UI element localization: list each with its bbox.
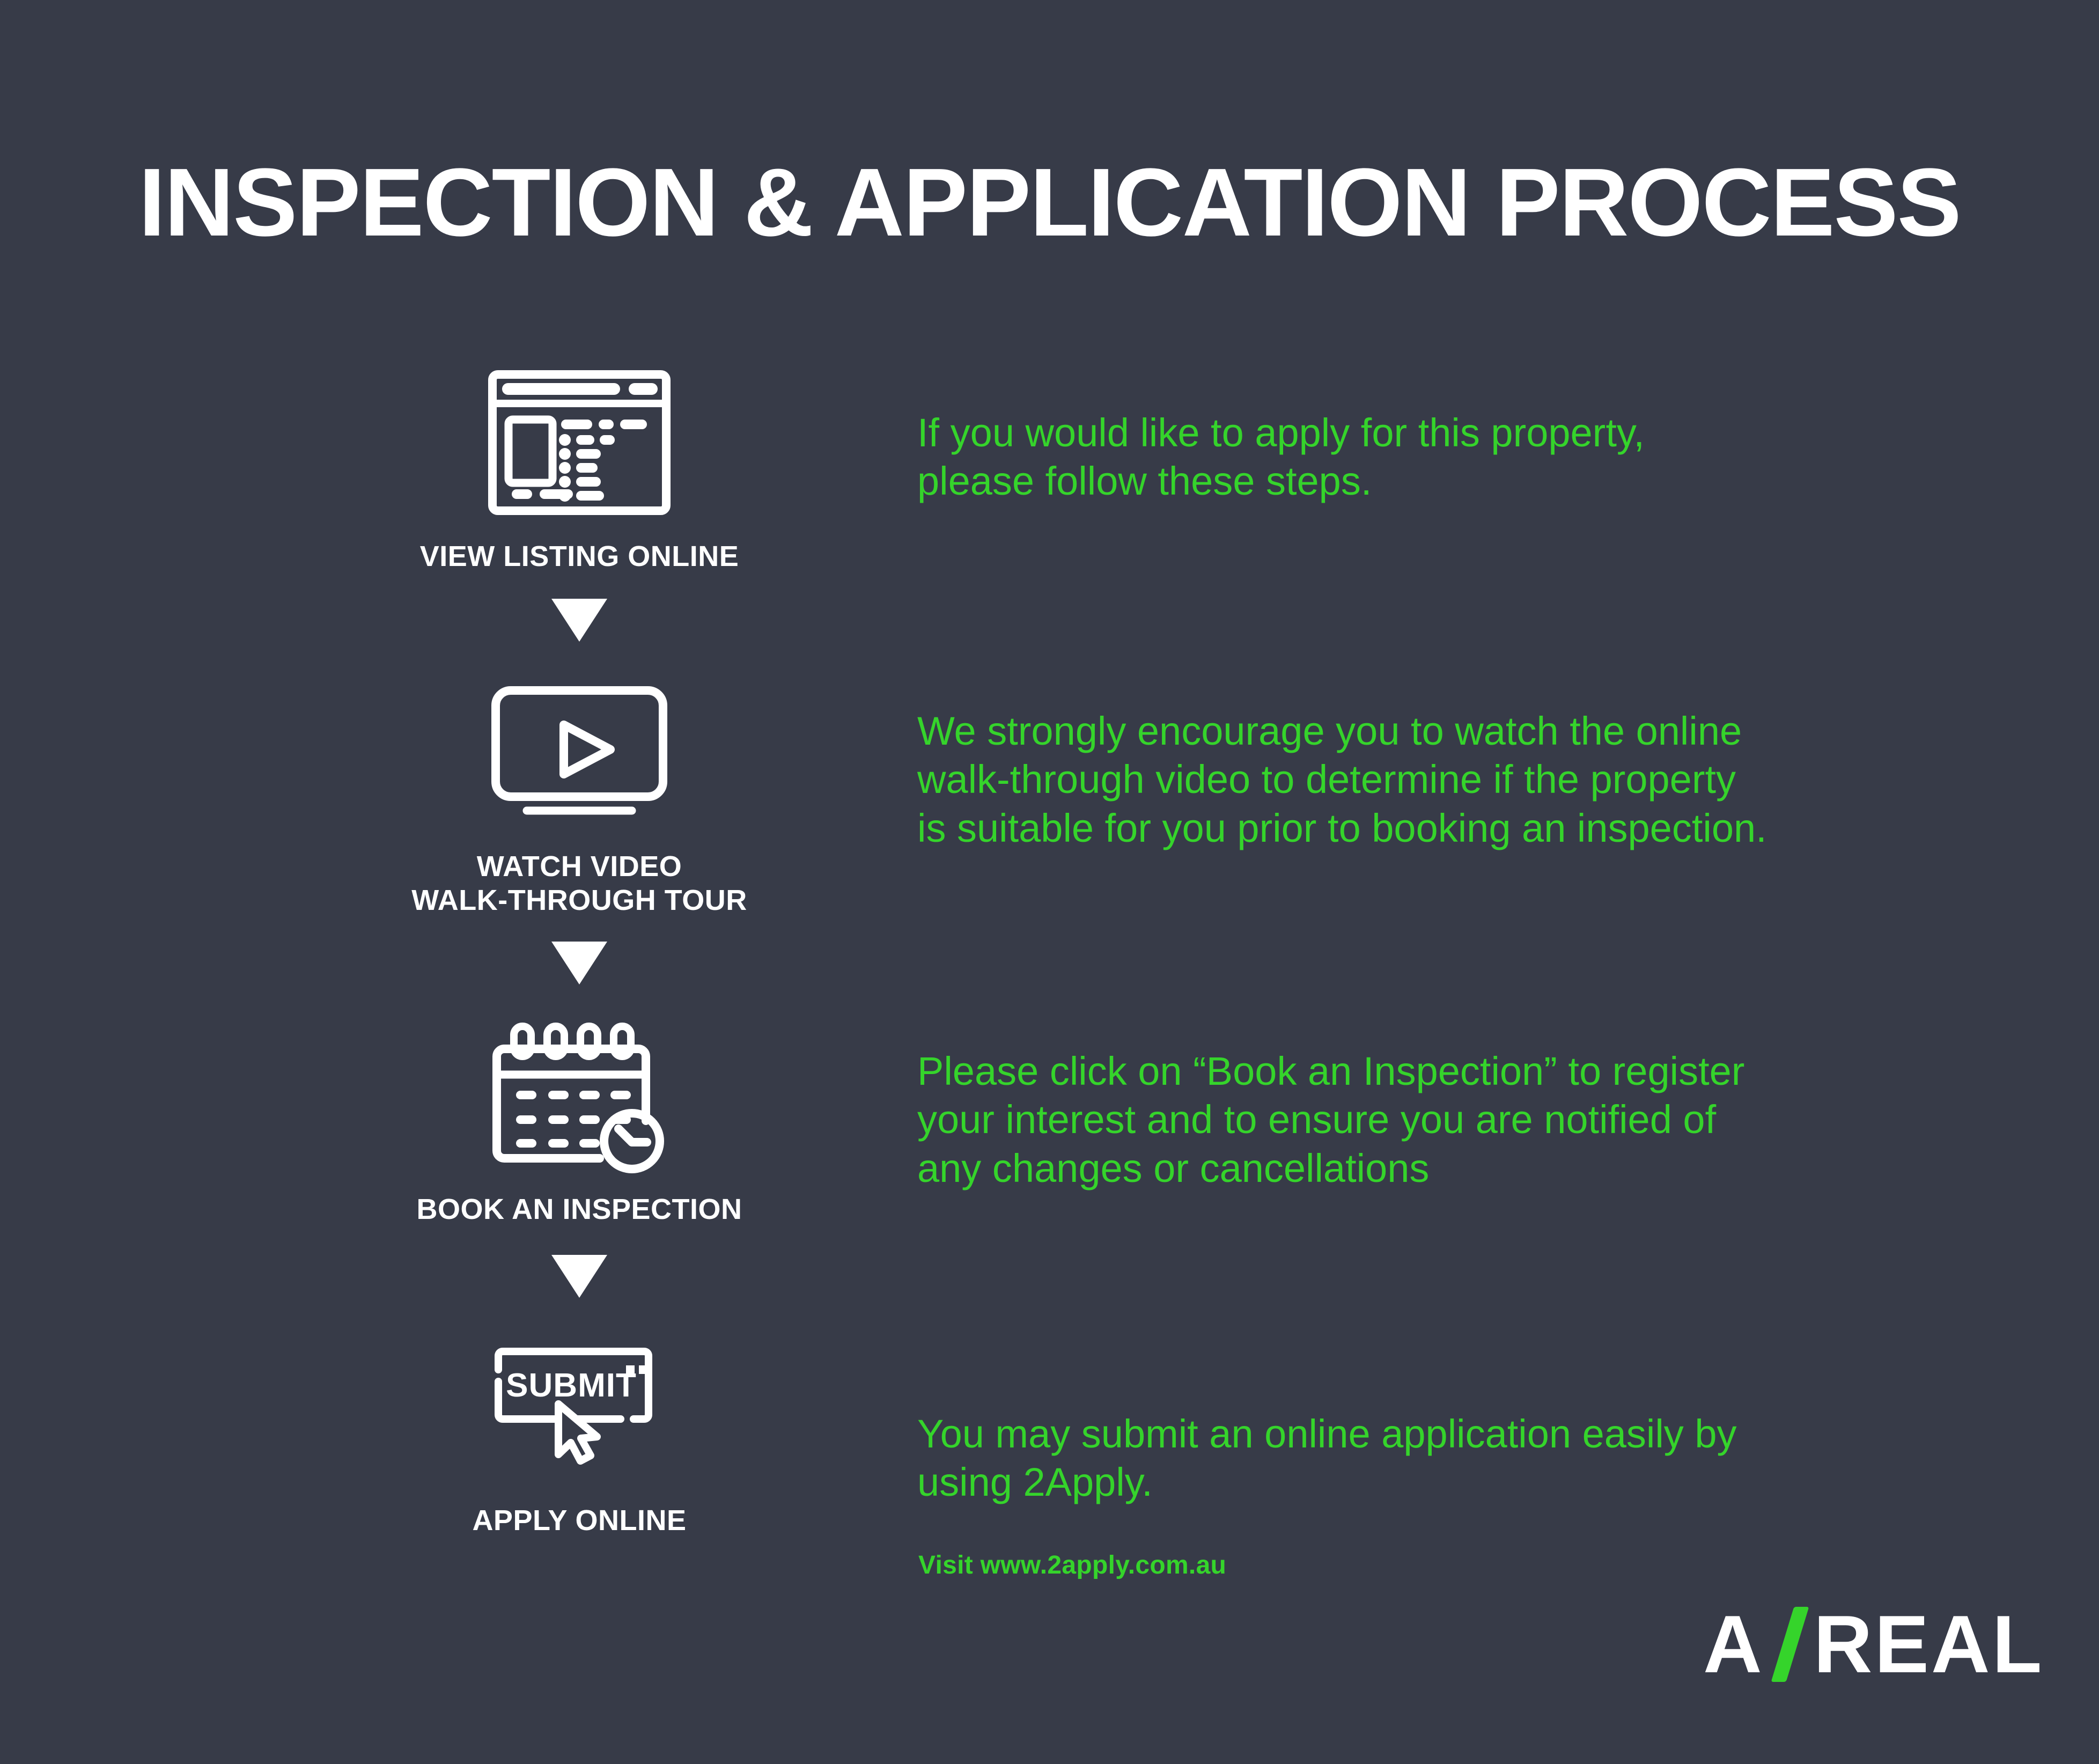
infographic-poster: INSPECTION & APPLICATION PROCESS [0, 0, 2099, 1764]
visit-link[interactable]: Visit www.2apply.com.au [918, 1550, 1226, 1580]
page-title: INSPECTION & APPLICATION PROCESS [0, 155, 2099, 251]
logo-name-real: REAL [1814, 1604, 2044, 1685]
step-copy-book-inspection: Please click on “Book an Inspection” to … [917, 1047, 1990, 1193]
flow-arrow-3 [375, 1255, 783, 1298]
step-copy-apply-online: You may submit an online application eas… [917, 1410, 1979, 1507]
video-play-icon [375, 664, 783, 841]
step-label: BOOK AN INSPECTION [375, 1193, 783, 1227]
process-flow-column: VIEW LISTING ONLINE WATCH VIDEO WALK-THR… [375, 354, 783, 1538]
flow-arrow-1 [375, 599, 783, 642]
submit-button-cursor-icon: SUBMIT [375, 1318, 783, 1495]
flow-arrow-2 [375, 942, 783, 984]
submit-icon-text: SUBMIT [506, 1367, 637, 1404]
down-arrow-icon [551, 942, 607, 984]
down-arrow-icon [551, 599, 607, 642]
listing-window-icon [375, 354, 783, 531]
logo-slash-icon [1771, 1607, 1809, 1682]
step-copy-watch-video: We strongly encourage you to watch the o… [917, 707, 2022, 852]
step-watch-video[interactable]: WATCH VIDEO WALK-THROUGH TOUR [375, 664, 783, 918]
step-copy-view-listing: If you would like to apply for this prop… [917, 409, 2017, 506]
logo-mark-a: A [1703, 1604, 1764, 1685]
brand-logo[interactable]: A REAL [1703, 1607, 2044, 1682]
step-view-listing-online[interactable]: VIEW LISTING ONLINE [375, 354, 783, 574]
calendar-clock-icon [375, 1007, 783, 1184]
step-label: VIEW LISTING ONLINE [375, 540, 783, 574]
down-arrow-icon [551, 1255, 607, 1298]
step-label: APPLY ONLINE [375, 1504, 783, 1538]
step-book-inspection[interactable]: BOOK AN INSPECTION [375, 1007, 783, 1227]
step-label: WATCH VIDEO WALK-THROUGH TOUR [375, 850, 783, 918]
step-apply-online[interactable]: SUBMIT APPLY ONLINE [375, 1318, 783, 1538]
